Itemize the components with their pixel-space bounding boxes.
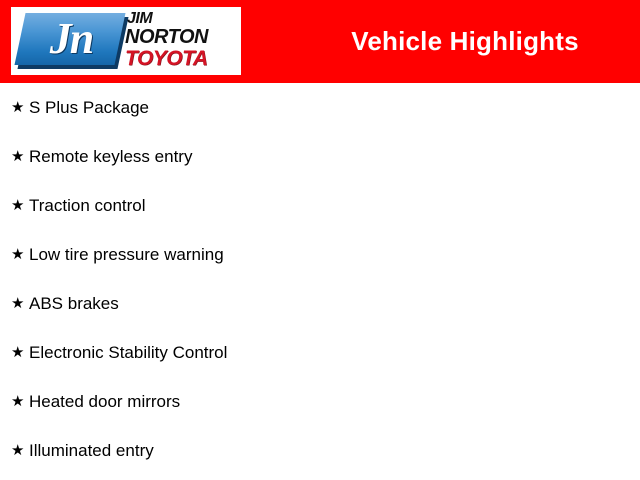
- list-item: ★Remote keyless entry: [0, 132, 640, 181]
- list-item: ★Heated door mirrors: [0, 377, 640, 426]
- star-bullet-icon: ★: [11, 394, 29, 409]
- highlight-label: S Plus Package: [29, 98, 640, 118]
- highlight-label: Electronic Stability Control: [29, 343, 640, 363]
- vehicle-highlights-list: ★S Plus Package★Remote keyless entry★Tra…: [0, 83, 640, 480]
- highlight-label: Remote keyless entry: [29, 147, 640, 167]
- dealer-logo[interactable]: Jn JIM NORTON TOYOTA: [11, 7, 241, 75]
- star-bullet-icon: ★: [11, 100, 29, 115]
- list-item: ★Illuminated entry: [0, 426, 640, 475]
- list-item: ★Electronic Stability Control: [0, 328, 640, 377]
- highlight-label: Heated door mirrors: [29, 392, 640, 412]
- star-bullet-icon: ★: [11, 296, 29, 311]
- dealer-logo-inner: Jn JIM NORTON TOYOTA: [11, 7, 241, 75]
- star-bullet-icon: ★: [11, 247, 29, 262]
- list-item: ★Low tire pressure warning: [0, 230, 640, 279]
- wordmark-line-norton: NORTON: [125, 27, 241, 48]
- list-item: ★Traction control: [0, 181, 640, 230]
- wordmark-line-jim: JIM: [127, 10, 241, 27]
- header-band: Jn JIM NORTON TOYOTA Vehicle Highlights: [0, 0, 640, 83]
- vehicle-highlights-page: Jn JIM NORTON TOYOTA Vehicle Highlights …: [0, 0, 640, 480]
- jn-monogram-letters: Jn: [17, 11, 125, 69]
- jn-monogram-icon: Jn: [17, 11, 125, 69]
- star-bullet-icon: ★: [11, 198, 29, 213]
- highlight-label: Illuminated entry: [29, 441, 640, 461]
- highlight-label: ABS brakes: [29, 294, 640, 314]
- star-bullet-icon: ★: [11, 345, 29, 360]
- star-bullet-icon: ★: [11, 149, 29, 164]
- highlight-label: Traction control: [29, 196, 640, 216]
- star-bullet-icon: ★: [11, 443, 29, 458]
- list-item: ★ABS brakes: [0, 279, 640, 328]
- wordmark-line-toyota: TOYOTA: [125, 48, 241, 70]
- dealer-wordmark: JIM NORTON TOYOTA: [125, 10, 241, 72]
- list-item: ★S Plus Package: [0, 83, 640, 132]
- page-title: Vehicle Highlights: [300, 25, 630, 57]
- highlight-label: Low tire pressure warning: [29, 245, 640, 265]
